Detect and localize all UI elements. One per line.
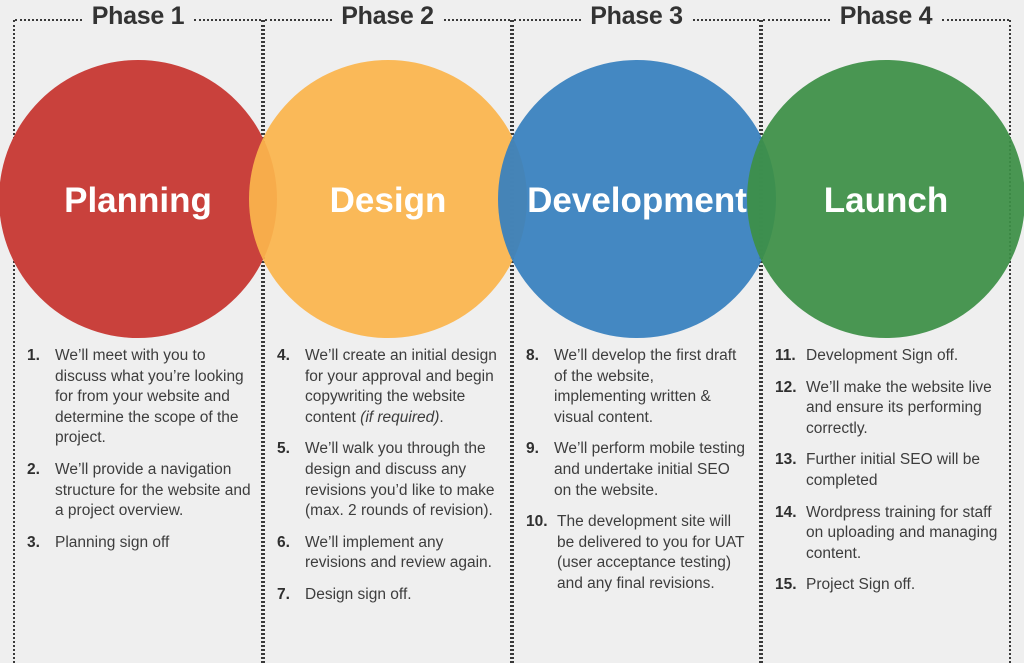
list-item-number: 7. (277, 585, 305, 606)
list-item-number: 8. (526, 346, 554, 428)
list-item: 2.We’ll provide a navigation structure f… (27, 460, 251, 522)
list-item-number: 15. (775, 575, 806, 596)
list-item-number: 9. (526, 439, 554, 501)
list-item: 15.Project Sign off. (775, 575, 999, 596)
phase-list-4: 11.Development Sign off.12.We’ll make th… (775, 346, 999, 607)
list-item-text: Further initial SEO will be completed (806, 450, 999, 491)
list-item-text: We’ll develop the first draft of the web… (554, 346, 749, 428)
list-item-number: 13. (775, 450, 806, 491)
list-item: 5.We’ll walk you through the design and … (277, 439, 500, 521)
list-item-number: 6. (277, 533, 305, 574)
list-item: 7.Design sign off. (277, 585, 500, 606)
list-item-text: We’ll implement any revisions and review… (305, 533, 500, 574)
list-item-text: Planning sign off (55, 533, 251, 554)
list-item-text: We’ll make the website live and ensure i… (806, 378, 999, 440)
phase-list-1: 1.We’ll meet with you to discuss what yo… (27, 346, 251, 564)
phase-list-3: 8.We’ll develop the first draft of the w… (526, 346, 749, 606)
list-item: 4.We’ll create an initial design for you… (277, 346, 500, 428)
process-phases-diagram: Phase 1Phase 2Phase 3Phase 4 PlanningDes… (0, 0, 1024, 663)
list-item-text: Wordpress training for staff on uploadin… (806, 503, 999, 565)
list-item-text: The development site will be delivered t… (557, 512, 749, 594)
list-item: 12.We’ll make the website live and ensur… (775, 378, 999, 440)
list-item-text: Design sign off. (305, 585, 500, 606)
list-item: 3.Planning sign off (27, 533, 251, 554)
list-item-text: We’ll walk you through the design and di… (305, 439, 500, 521)
list-item-text: We’ll provide a navigation structure for… (55, 460, 251, 522)
list-item: 1.We’ll meet with you to discuss what yo… (27, 346, 251, 449)
list-item-text: Project Sign off. (806, 575, 999, 596)
list-item-text: Development Sign off. (806, 346, 999, 367)
list-item-number: 2. (27, 460, 55, 522)
list-item: 10.The development site will be delivere… (526, 512, 749, 594)
list-item-number: 4. (277, 346, 305, 428)
list-item-text: We’ll create an initial design for your … (305, 346, 500, 428)
list-item: 11.Development Sign off. (775, 346, 999, 367)
list-item: 6.We’ll implement any revisions and revi… (277, 533, 500, 574)
phase-list-2: 4.We’ll create an initial design for you… (277, 346, 500, 617)
list-item-text: We’ll perform mobile testing and underta… (554, 439, 749, 501)
list-item-number: 5. (277, 439, 305, 521)
list-item-number: 1. (27, 346, 55, 449)
list-item-number: 3. (27, 533, 55, 554)
list-item: 8.We’ll develop the first draft of the w… (526, 346, 749, 428)
list-item-number: 12. (775, 378, 806, 440)
list-item-emphasis: (if required) (360, 409, 439, 426)
list-item: 13.Further initial SEO will be completed (775, 450, 999, 491)
circle-label-launch: Launch (686, 181, 1024, 221)
list-item-text: We’ll meet with you to discuss what you’… (55, 346, 251, 449)
list-item-number: 11. (775, 346, 806, 367)
venn-circles: PlanningDesignDevelopmentLaunch (0, 0, 1024, 400)
list-item: 9.We’ll perform mobile testing and under… (526, 439, 749, 501)
list-item: 14.Wordpress training for staff on uploa… (775, 503, 999, 565)
list-item-number: 10. (526, 512, 557, 594)
list-item-number: 14. (775, 503, 806, 565)
